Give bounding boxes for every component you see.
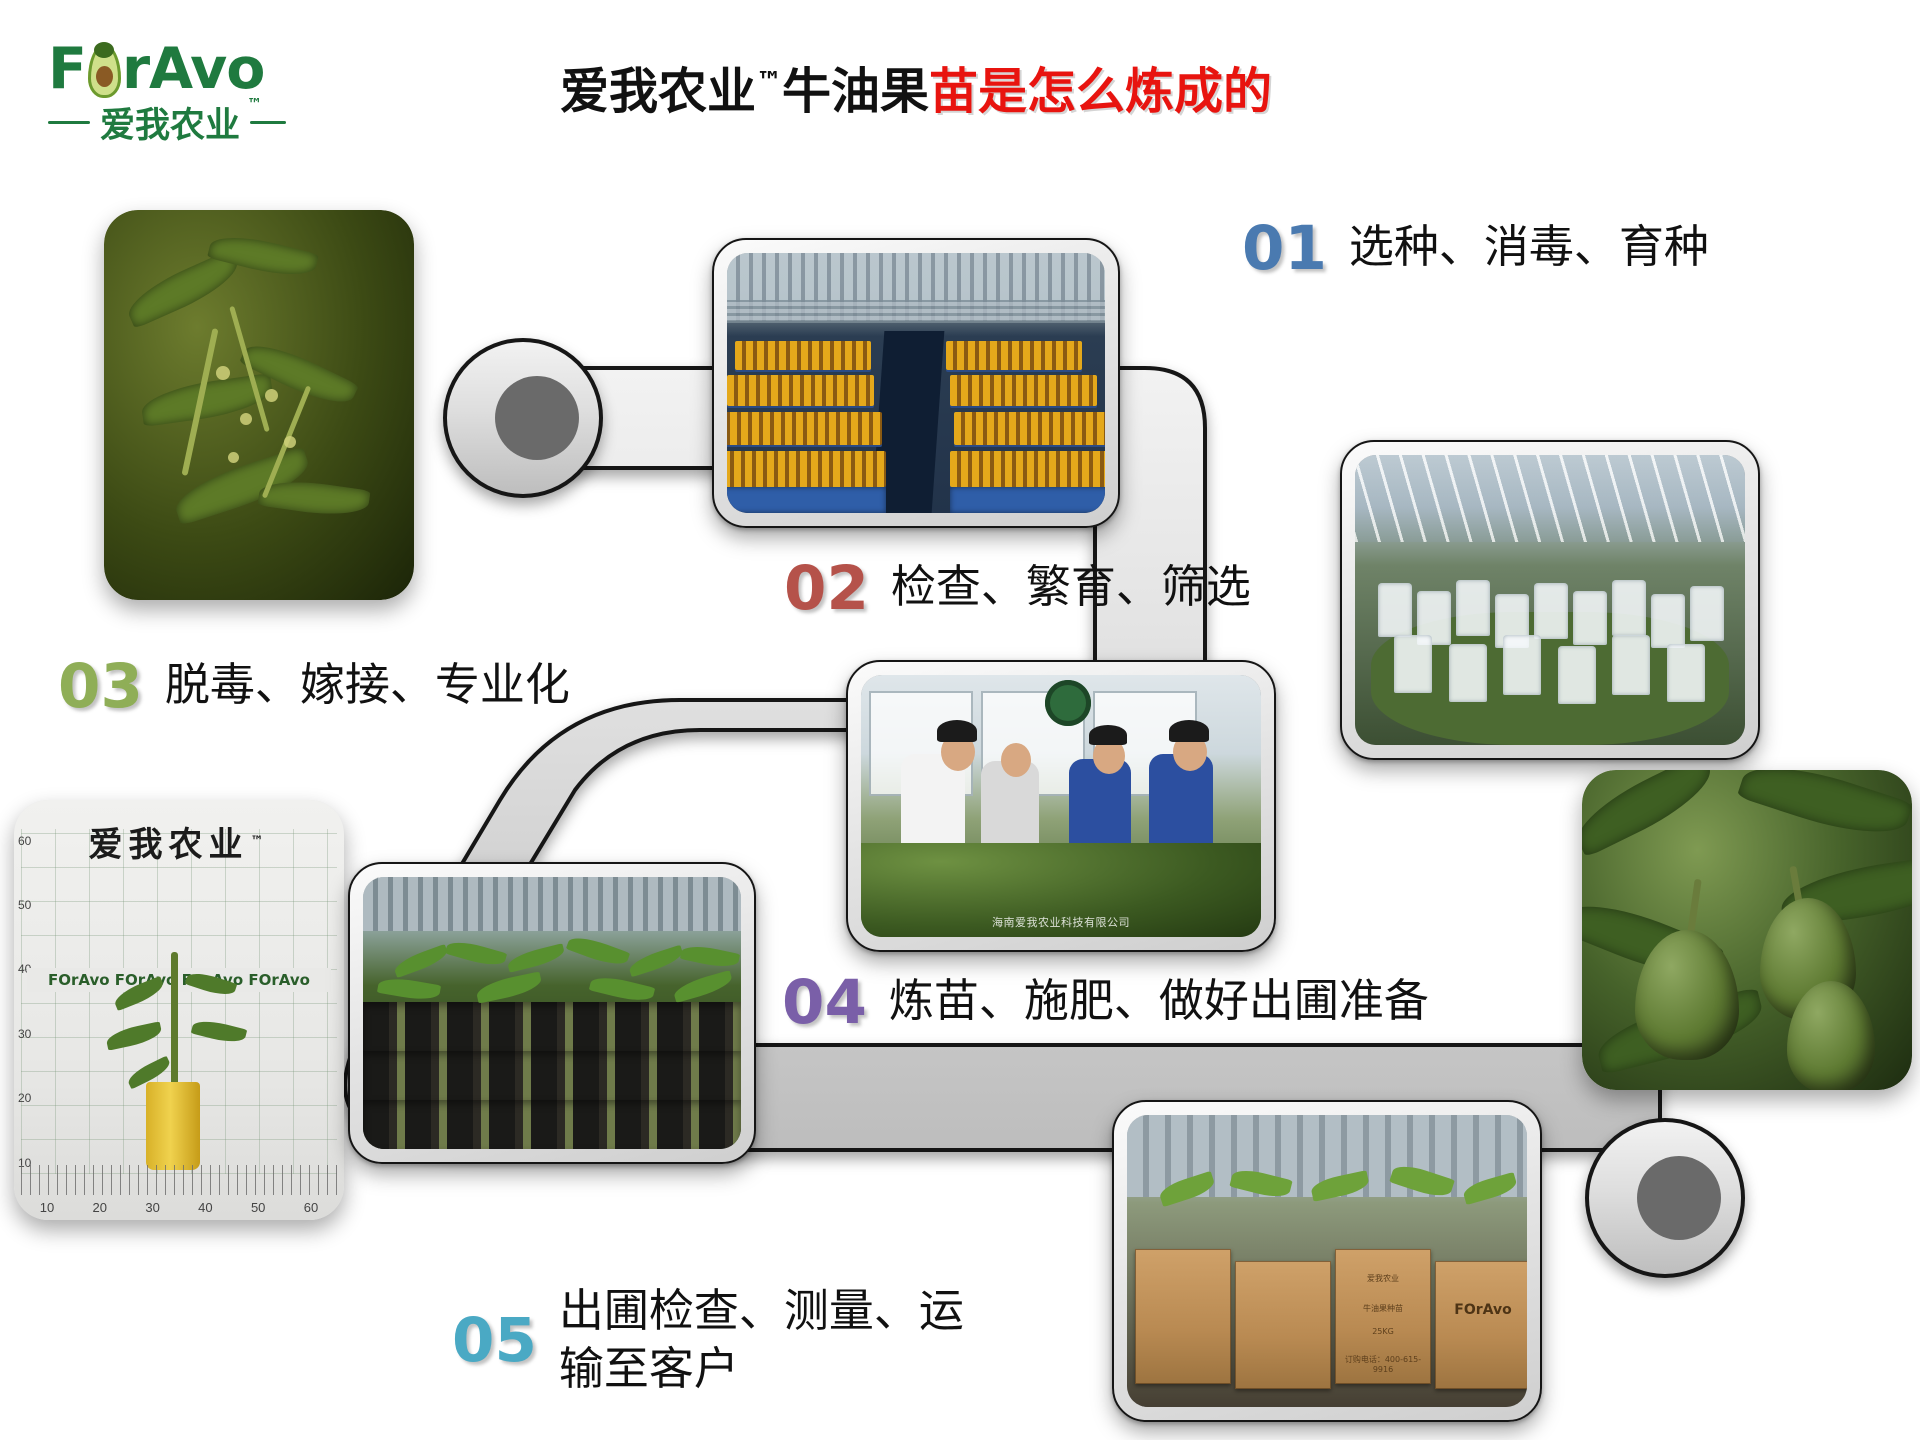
ship-box-line3: 25KG — [1335, 1327, 1431, 1336]
photo-grafting-greenhouse-bags — [1355, 455, 1745, 745]
step-03-label: 脱毒、嫁接、专业化 — [165, 656, 570, 714]
measure-board-brand: 爱我农业™ — [40, 808, 317, 875]
step-04-number: 04 — [782, 972, 867, 1033]
photo-flowering-avocado-branch — [104, 210, 414, 600]
photo-avocado-fruit-on-tree — [1582, 770, 1912, 1090]
photo-measured-seedling-grid: 爱我农业™ 605040302010 FOrAvo FOrAvo FOrAvo … — [14, 800, 344, 1220]
photo-card-seed-trays — [712, 238, 1120, 528]
photo-seed-germination-trays — [727, 253, 1105, 513]
photo-card-avocado-fruit — [1582, 770, 1912, 1090]
measure-board-y-axis: 605040302010 — [18, 834, 44, 1170]
photo-card-flowering-branch — [104, 210, 414, 600]
step-03-number: 03 — [58, 656, 143, 717]
photo-card-grafting-greenhouse — [1340, 440, 1760, 760]
step-02-label: 检查、繁育、筛选 — [891, 558, 1251, 616]
ship-box-line4: 订购电话：400-615-9916 — [1335, 1354, 1431, 1374]
measure-board-x-axis: 102030405060 — [21, 1200, 338, 1218]
step-05: 05 出圃检查、测量、运输至客户 — [452, 1282, 989, 1398]
photo-boxed-seedlings-shipping: 爱我农业 牛油果种苗 25KG 订购电话：400-615-9916 FOrAvo — [1127, 1115, 1527, 1407]
step-05-label: 出圃检查、测量、运输至客户 — [559, 1282, 989, 1398]
photo-potted-seedling-rows — [363, 877, 741, 1149]
infographic-canvas: FrAvo 爱我农业 ™ 爱我农业™牛油果苗是怎么炼成的 — [0, 0, 1920, 1440]
step-04-label: 炼苗、施肥、做好出圃准备 — [889, 972, 1429, 1030]
step-02: 02 检查、繁育、筛选 — [784, 558, 1251, 619]
step-01-number: 01 — [1242, 218, 1327, 279]
ship-box-line1: 爱我农业 — [1335, 1273, 1431, 1284]
step-03: 03 脱毒、嫁接、专业化 — [58, 656, 570, 717]
ship-box-side-text: FOrAvo — [1435, 1302, 1527, 1318]
step-02-number: 02 — [784, 558, 869, 619]
photo-card-team-inspection: 海南爱我农业科技有限公司 — [846, 660, 1276, 952]
step-01: 01 选种、消毒、育种 — [1242, 218, 1709, 279]
step-04: 04 炼苗、施肥、做好出圃准备 — [782, 972, 1429, 1033]
step-05-number: 05 — [452, 1310, 537, 1371]
ribbon-end-cap — [1587, 1120, 1743, 1276]
ribbon-start-cap — [445, 340, 601, 496]
ship-box-line2: 牛油果种苗 — [1335, 1303, 1431, 1314]
photo-card-measured-seedling: 爱我农业™ 605040302010 FOrAvo FOrAvo FOrAvo … — [14, 800, 344, 1220]
photo-team-inspecting-seedlings: 海南爱我农业科技有限公司 — [861, 675, 1261, 937]
photo-card-shipping-boxes: 爱我农业 牛油果种苗 25KG 订购电话：400-615-9916 FOrAvo — [1112, 1100, 1542, 1422]
photo-card-nursery-rows — [348, 862, 756, 1164]
step-01-label: 选种、消毒、育种 — [1349, 218, 1709, 276]
measure-board-strip: FOrAvo FOrAvo FOrAvo FOrAvo — [27, 968, 331, 992]
photo-watermark: 海南爱我农业科技有限公司 — [992, 914, 1130, 930]
